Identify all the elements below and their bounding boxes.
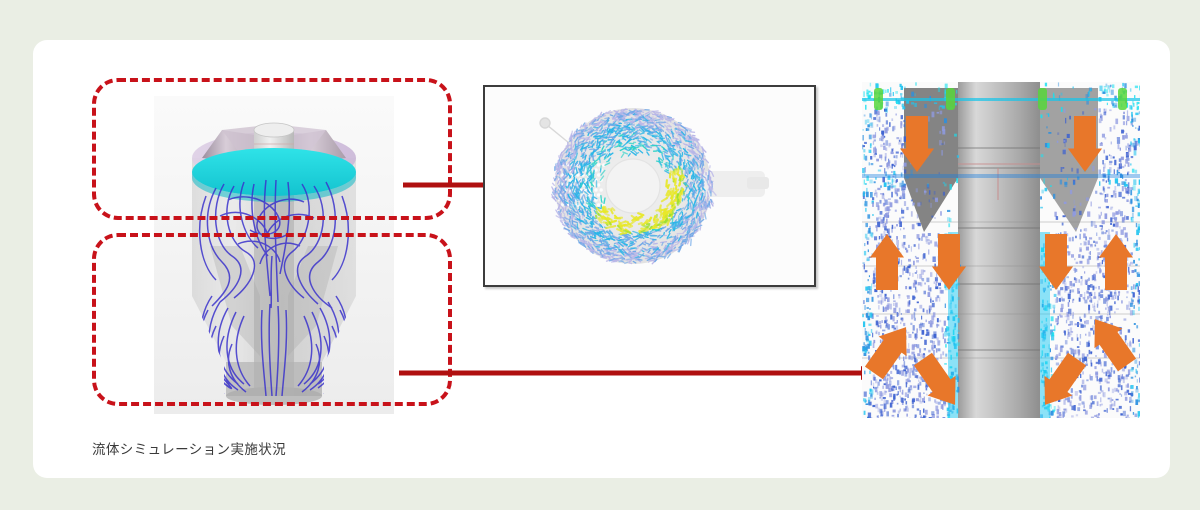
figure-container: 流体シミュレーション実施状況 xyxy=(33,40,1170,478)
topdown-vector-svg xyxy=(485,87,814,285)
highlight-box-upper-region xyxy=(92,78,452,220)
figure-caption: 流体シミュレーション実施状況 xyxy=(92,438,286,458)
panel-topdown-vector-plot xyxy=(483,85,816,287)
center-shaft xyxy=(958,82,1040,418)
center-hub-topdown xyxy=(606,159,660,213)
panel-3d-streamlines xyxy=(92,78,454,408)
cross-section-svg xyxy=(862,82,1140,418)
screenshot-root: 流体シミュレーション実施状況 xyxy=(0,0,1200,510)
panel-cross-section xyxy=(862,82,1140,418)
highlight-box-lower-region xyxy=(92,233,452,406)
connector-arrow-lower xyxy=(399,365,877,381)
figure-card: 流体シミュレーション実施状況 xyxy=(33,40,1170,478)
